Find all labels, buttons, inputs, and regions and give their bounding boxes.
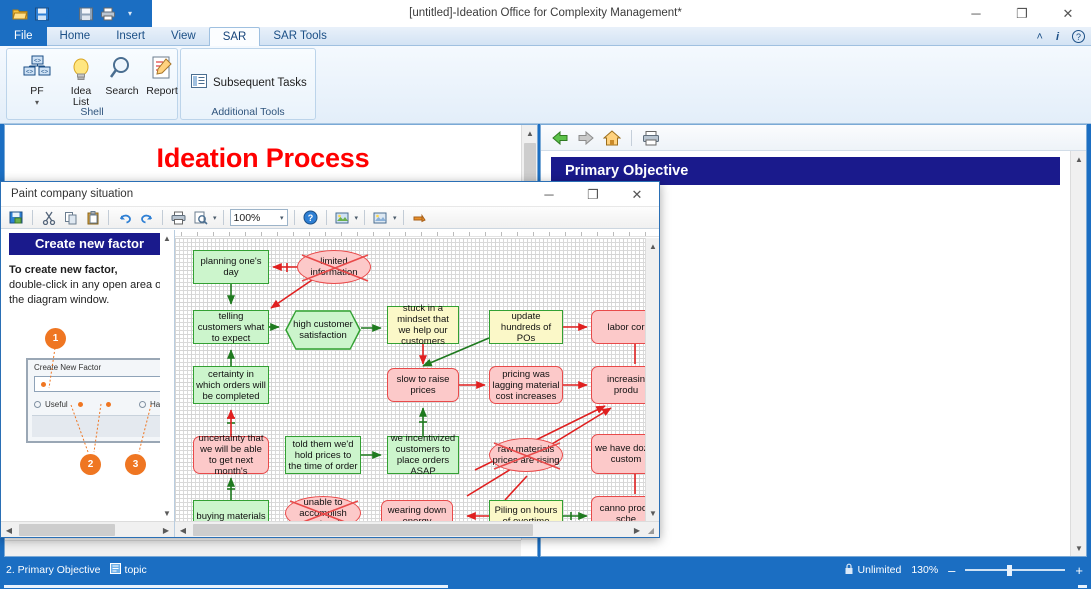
useful-label: Useful bbox=[45, 400, 68, 409]
ribbon: <> <> <> PF ▾ bbox=[0, 46, 1091, 124]
diagram-node-we-have-dozens-customers[interactable]: we have dozer custom bbox=[591, 434, 645, 474]
hint-segment-right5 bbox=[1078, 585, 1087, 588]
panel-heading: Create new factor bbox=[9, 233, 170, 255]
useful-radio[interactable] bbox=[34, 401, 41, 408]
paste-icon[interactable] bbox=[83, 209, 102, 227]
diagram-node-cannot-produce-schedule[interactable]: canno produ sche bbox=[591, 496, 645, 521]
diagram-node-increasing-production[interactable]: increasin produ bbox=[591, 366, 645, 404]
diagram-node-label: we incentivized customers to place order… bbox=[390, 433, 456, 477]
status-topic: topic bbox=[110, 563, 147, 577]
panel-horizontal-scrollbar[interactable]: ◀ ▶ bbox=[1, 521, 174, 537]
zoom-slider-track bbox=[965, 569, 1065, 571]
svg-text:<>: <> bbox=[34, 58, 42, 64]
status-topic-path: 2. Primary Objective bbox=[6, 564, 101, 576]
callout-dot-2 bbox=[78, 402, 83, 407]
diagram-node-stuck-in-a-mindset[interactable]: stuck in a mindset that we help our cust… bbox=[387, 306, 459, 344]
minimize-button[interactable]: ─ bbox=[953, 0, 999, 27]
license-label: Unlimited bbox=[858, 564, 902, 576]
diagram-node-label: labor cor bbox=[608, 322, 645, 333]
diagram-node-raw-materials-prices-rising[interactable]: raw materials prices are rising bbox=[489, 438, 563, 472]
document-horizontal-scrollbar[interactable] bbox=[5, 540, 521, 556]
toolbar-separator bbox=[223, 210, 224, 225]
diagram-node-label: wearing down energy bbox=[384, 505, 450, 521]
scroll-up-arrow-icon[interactable]: ▲ bbox=[522, 125, 538, 141]
zoom-in-button[interactable]: + bbox=[1075, 563, 1083, 578]
callout-dot-1 bbox=[41, 382, 46, 387]
edit-picture-dropdown-icon[interactable]: ▾ bbox=[393, 214, 397, 222]
toolbar-separator bbox=[32, 210, 33, 225]
child-toolbar: ▾ 100% ▾ ? ▾ ▾ bbox=[1, 207, 659, 229]
scroll-up-arrow-icon[interactable]: ▲ bbox=[646, 238, 659, 254]
callout-badge-1: 1 bbox=[45, 328, 66, 349]
mini-dialog-buttonbar bbox=[32, 415, 175, 437]
zoom-out-button[interactable]: – bbox=[948, 563, 955, 578]
panel-instruction-bold: To create new factor, bbox=[9, 263, 168, 278]
status-left: 2. Primary Objective topic bbox=[0, 563, 147, 577]
diagram-node-label: planning one's day bbox=[196, 256, 266, 278]
ribbon-right-controls: ˄ i ? bbox=[1037, 27, 1086, 46]
diagram-canvas-area: planning one's daylimited informationtel… bbox=[175, 230, 659, 537]
diagram-node-buying-materials[interactable]: buying materials bbox=[193, 500, 269, 521]
toolbar-separator bbox=[294, 210, 295, 225]
undo-icon[interactable] bbox=[115, 209, 134, 227]
ribbon-group-additional-tools: Subsequent Tasks Additional Tools bbox=[180, 48, 316, 120]
subsequent-tasks-label: Subsequent Tasks bbox=[213, 77, 307, 89]
print-icon[interactable] bbox=[640, 128, 662, 148]
diagram-node-piling-on-hours-of-overtime[interactable]: Piling on hours of overtime bbox=[489, 500, 563, 521]
scroll-left-arrow-icon[interactable]: ◀ bbox=[1, 522, 17, 537]
diagram-node-we-incentivized-customers[interactable]: we incentivized customers to place order… bbox=[387, 436, 459, 474]
zoom-slider[interactable] bbox=[965, 564, 1065, 576]
pin-icon[interactable] bbox=[410, 209, 429, 227]
scroll-down-arrow-icon[interactable]: ▼ bbox=[646, 505, 659, 521]
print-preview-icon[interactable] bbox=[191, 209, 210, 227]
diagram-node-label: slow to raise prices bbox=[390, 374, 456, 396]
diagram-node-slow-to-raise-prices[interactable]: slow to raise prices bbox=[387, 368, 459, 402]
status-bar: 2. Primary Objective topic Unlimited 130… bbox=[0, 557, 1091, 589]
zoom-slider-knob[interactable] bbox=[1007, 565, 1012, 576]
mini-dialog-title: Create New Factor bbox=[28, 360, 175, 372]
scroll-thumb[interactable] bbox=[19, 524, 115, 536]
scroll-thumb[interactable] bbox=[193, 524, 533, 536]
diagram-node-certainty-in-which-orders-completed[interactable]: certainty in which orders will be comple… bbox=[193, 366, 269, 404]
scroll-down-arrow-icon[interactable]: ▼ bbox=[160, 505, 174, 521]
scroll-down-arrow-icon[interactable]: ▼ bbox=[1071, 540, 1087, 556]
canvas-horizontal-scrollbar[interactable]: ◀ ▶ ◢ bbox=[175, 521, 659, 537]
diagram-node-label: canno produ sche bbox=[594, 503, 645, 521]
child-maximize-button[interactable]: ❐ bbox=[571, 182, 615, 207]
copy-icon[interactable] bbox=[61, 209, 80, 227]
help-icon[interactable]: ? bbox=[301, 209, 320, 227]
forward-arrow-icon[interactable] bbox=[575, 128, 597, 148]
child-window-title: Paint company situation bbox=[11, 182, 133, 207]
status-bar-row: 2. Primary Objective topic Unlimited 130… bbox=[0, 561, 1091, 579]
panel-instruction-rest: double-click in any open area of the dia… bbox=[9, 278, 168, 308]
panel-instruction: To create new factor, double-click in an… bbox=[9, 263, 168, 308]
toolbar-separator bbox=[364, 210, 365, 225]
scroll-right-arrow-icon[interactable]: ▶ bbox=[158, 522, 174, 537]
status-right: Unlimited 130% – + bbox=[844, 563, 1083, 578]
task-list-icon bbox=[191, 74, 207, 91]
mini-dialog-preview: Create New Factor Useful Harmful bbox=[26, 358, 175, 443]
home-icon[interactable] bbox=[601, 128, 623, 148]
collapse-ribbon-icon[interactable]: ˄ bbox=[1037, 31, 1043, 43]
diagram-node-pricing-was-lagging[interactable]: pricing was lagging material cost increa… bbox=[489, 366, 563, 404]
diagram-node-label: uncertainty that we will be able to get … bbox=[196, 433, 266, 477]
tab-sar[interactable]: SAR bbox=[209, 27, 261, 47]
diagram-node-update-hundreds-of-pos[interactable]: update hundreds of POs bbox=[489, 310, 563, 344]
lock-icon bbox=[844, 563, 854, 578]
zoom-level-label: 130% bbox=[911, 564, 938, 576]
child-minimize-button[interactable]: ─ bbox=[527, 182, 571, 207]
scroll-up-arrow-icon[interactable]: ▲ bbox=[1071, 151, 1087, 167]
canvas-vertical-scrollbar[interactable]: ▲ ▼ bbox=[645, 238, 659, 521]
ribbon-tab-bar: File Home Insert View SAR SAR Tools bbox=[0, 27, 1091, 46]
zoom-combobox[interactable]: 100% ▾ bbox=[230, 209, 288, 226]
hint-segment-left bbox=[4, 585, 448, 588]
subsequent-tasks-button[interactable]: Subsequent Tasks bbox=[191, 74, 307, 91]
diagram-node-label: pricing was lagging material cost increa… bbox=[492, 369, 560, 402]
restore-button[interactable]: ❐ bbox=[999, 0, 1045, 27]
scroll-up-arrow-icon[interactable]: ▲ bbox=[160, 230, 174, 246]
diagram-node-labor-costs[interactable]: labor cor bbox=[591, 310, 645, 344]
shell-group-label: Shell bbox=[7, 106, 177, 118]
scroll-left-arrow-icon[interactable]: ◀ bbox=[175, 522, 191, 537]
tab-sar-tools[interactable]: SAR Tools bbox=[260, 27, 339, 46]
create-new-factor-panel: Create new factor To create new factor, … bbox=[1, 230, 175, 537]
toolbar-separator bbox=[631, 130, 632, 146]
harmful-radio[interactable] bbox=[139, 401, 146, 408]
child-window-controls: ─ ❐ ✕ bbox=[527, 182, 659, 209]
diagram-node-label: buying materials bbox=[196, 511, 265, 522]
help-icon[interactable]: ? bbox=[1072, 30, 1085, 43]
diagram-node-uncertainty-next-month[interactable]: uncertainty that we will be able to get … bbox=[193, 436, 269, 474]
svg-text:<>: <> bbox=[26, 69, 34, 75]
navigation-toolbar bbox=[541, 125, 1086, 151]
print-icon[interactable] bbox=[169, 209, 188, 227]
page-title: Ideation Process bbox=[19, 143, 507, 174]
svg-text:<>: <> bbox=[41, 69, 49, 75]
title-bar: ▾ [untitled]-Ideation Office for Complex… bbox=[0, 0, 1091, 27]
additional-tools-group-label: Additional Tools bbox=[181, 106, 315, 118]
toolbar-separator bbox=[326, 210, 327, 225]
child-close-button[interactable]: ✕ bbox=[615, 182, 659, 207]
diagram-canvas[interactable]: planning one's daylimited informationtel… bbox=[175, 238, 645, 521]
process-flow-icon: <> <> <> bbox=[12, 53, 62, 83]
diagram-node-telling-customers-what-to-expect[interactable]: telling customers what to expect bbox=[193, 310, 269, 344]
diagram-node-label: unable to accomplish usual tasks bbox=[288, 497, 358, 522]
topic-icon bbox=[110, 563, 121, 577]
save-icon[interactable] bbox=[7, 209, 26, 227]
diagram-node-label: increasin produ bbox=[594, 374, 645, 396]
panel-vertical-scrollbar[interactable]: ▲ ▼ bbox=[160, 230, 174, 521]
tab-file[interactable]: File bbox=[0, 27, 47, 46]
callout-dot-3 bbox=[106, 402, 111, 407]
diagram-node-label: limited information bbox=[300, 256, 368, 278]
callout-badge-2: 2 bbox=[80, 454, 101, 475]
diagram-node-label: telling customers what to expect bbox=[196, 311, 266, 344]
insert-picture-dropdown-icon[interactable]: ▾ bbox=[355, 214, 359, 222]
zoom-value: 100% bbox=[234, 212, 261, 224]
diagram-node-label: update hundreds of POs bbox=[492, 311, 560, 344]
diagram-node-wearing-down-energy[interactable]: wearing down energy bbox=[381, 500, 453, 521]
diagram-node-unable-to-accomplish-usual-tasks[interactable]: unable to accomplish usual tasks bbox=[285, 496, 361, 521]
status-topic-label: topic bbox=[125, 564, 147, 576]
info-icon[interactable]: i bbox=[1056, 31, 1059, 43]
tab-view[interactable]: View bbox=[158, 27, 209, 46]
diagram-node-high-customer-satisfaction[interactable]: high customer satisfaction bbox=[285, 310, 361, 350]
application-window: ▾ [untitled]-Ideation Office for Complex… bbox=[0, 0, 1091, 589]
toolbar-separator bbox=[403, 210, 404, 225]
redo-icon[interactable] bbox=[137, 209, 156, 227]
diagram-node-told-them-hold-prices[interactable]: told them we'd hold prices to the time o… bbox=[285, 436, 361, 474]
resize-grip-icon[interactable]: ◢ bbox=[643, 522, 659, 537]
toolbar-separator bbox=[108, 210, 109, 225]
license-status: Unlimited bbox=[844, 563, 902, 578]
diagram-node-planning-ones-day[interactable]: planning one's day bbox=[193, 250, 269, 284]
window-title: [untitled]-Ideation Office for Complexit… bbox=[0, 0, 1091, 27]
diagram-node-label: told them we'd hold prices to the time o… bbox=[288, 439, 358, 472]
mini-dialog-input[interactable] bbox=[34, 376, 175, 392]
pf-button[interactable]: <> <> <> PF ▾ bbox=[12, 53, 62, 108]
paint-company-situation-window: Paint company situation ─ ❐ ✕ bbox=[0, 181, 660, 538]
diagram-node-label: high customer satisfaction bbox=[287, 319, 359, 341]
window-controls: ─ ❐ ✕ bbox=[953, 0, 1091, 27]
taskbar-hint-strip bbox=[0, 584, 1091, 589]
child-title-bar: Paint company situation ─ ❐ ✕ bbox=[1, 182, 659, 207]
chevron-down-icon: ▾ bbox=[280, 214, 284, 222]
diagram-node-label: raw materials prices are rising bbox=[492, 444, 560, 466]
mini-dialog-options: Useful Harmful bbox=[34, 397, 175, 411]
back-arrow-icon[interactable] bbox=[549, 128, 571, 148]
diagram-node-label: Piling on hours of overtime bbox=[492, 505, 560, 521]
toolbar-separator bbox=[162, 210, 163, 225]
ribbon-group-shell: <> <> <> PF ▾ bbox=[6, 48, 178, 120]
diagram-node-limited-information[interactable]: limited information bbox=[297, 250, 371, 284]
svg-text:?: ? bbox=[307, 213, 313, 223]
diagram-node-label: certainty in which orders will be comple… bbox=[196, 369, 266, 402]
pf-label: PF bbox=[12, 86, 62, 97]
tab-home[interactable]: Home bbox=[47, 27, 104, 46]
print-dropdown-icon[interactable]: ▾ bbox=[213, 214, 217, 222]
horizontal-ruler bbox=[175, 230, 659, 237]
diagram-node-label: stuck in a mindset that we help our cust… bbox=[390, 303, 456, 347]
workspace: Ideation Process Step A. Situation Asses… bbox=[0, 124, 1091, 557]
callout-badge-3: 3 bbox=[125, 454, 146, 475]
insert-picture-icon[interactable] bbox=[333, 209, 352, 227]
close-button[interactable]: ✕ bbox=[1045, 0, 1091, 27]
objective-vertical-scrollbar[interactable]: ▲ ▼ bbox=[1070, 151, 1086, 556]
tab-insert[interactable]: Insert bbox=[103, 27, 158, 46]
edit-picture-icon[interactable] bbox=[371, 209, 390, 227]
cut-icon[interactable] bbox=[39, 209, 58, 227]
diagram-node-label: we have dozer custom bbox=[594, 443, 645, 465]
child-window-body: Create new factor To create new factor, … bbox=[1, 230, 659, 537]
